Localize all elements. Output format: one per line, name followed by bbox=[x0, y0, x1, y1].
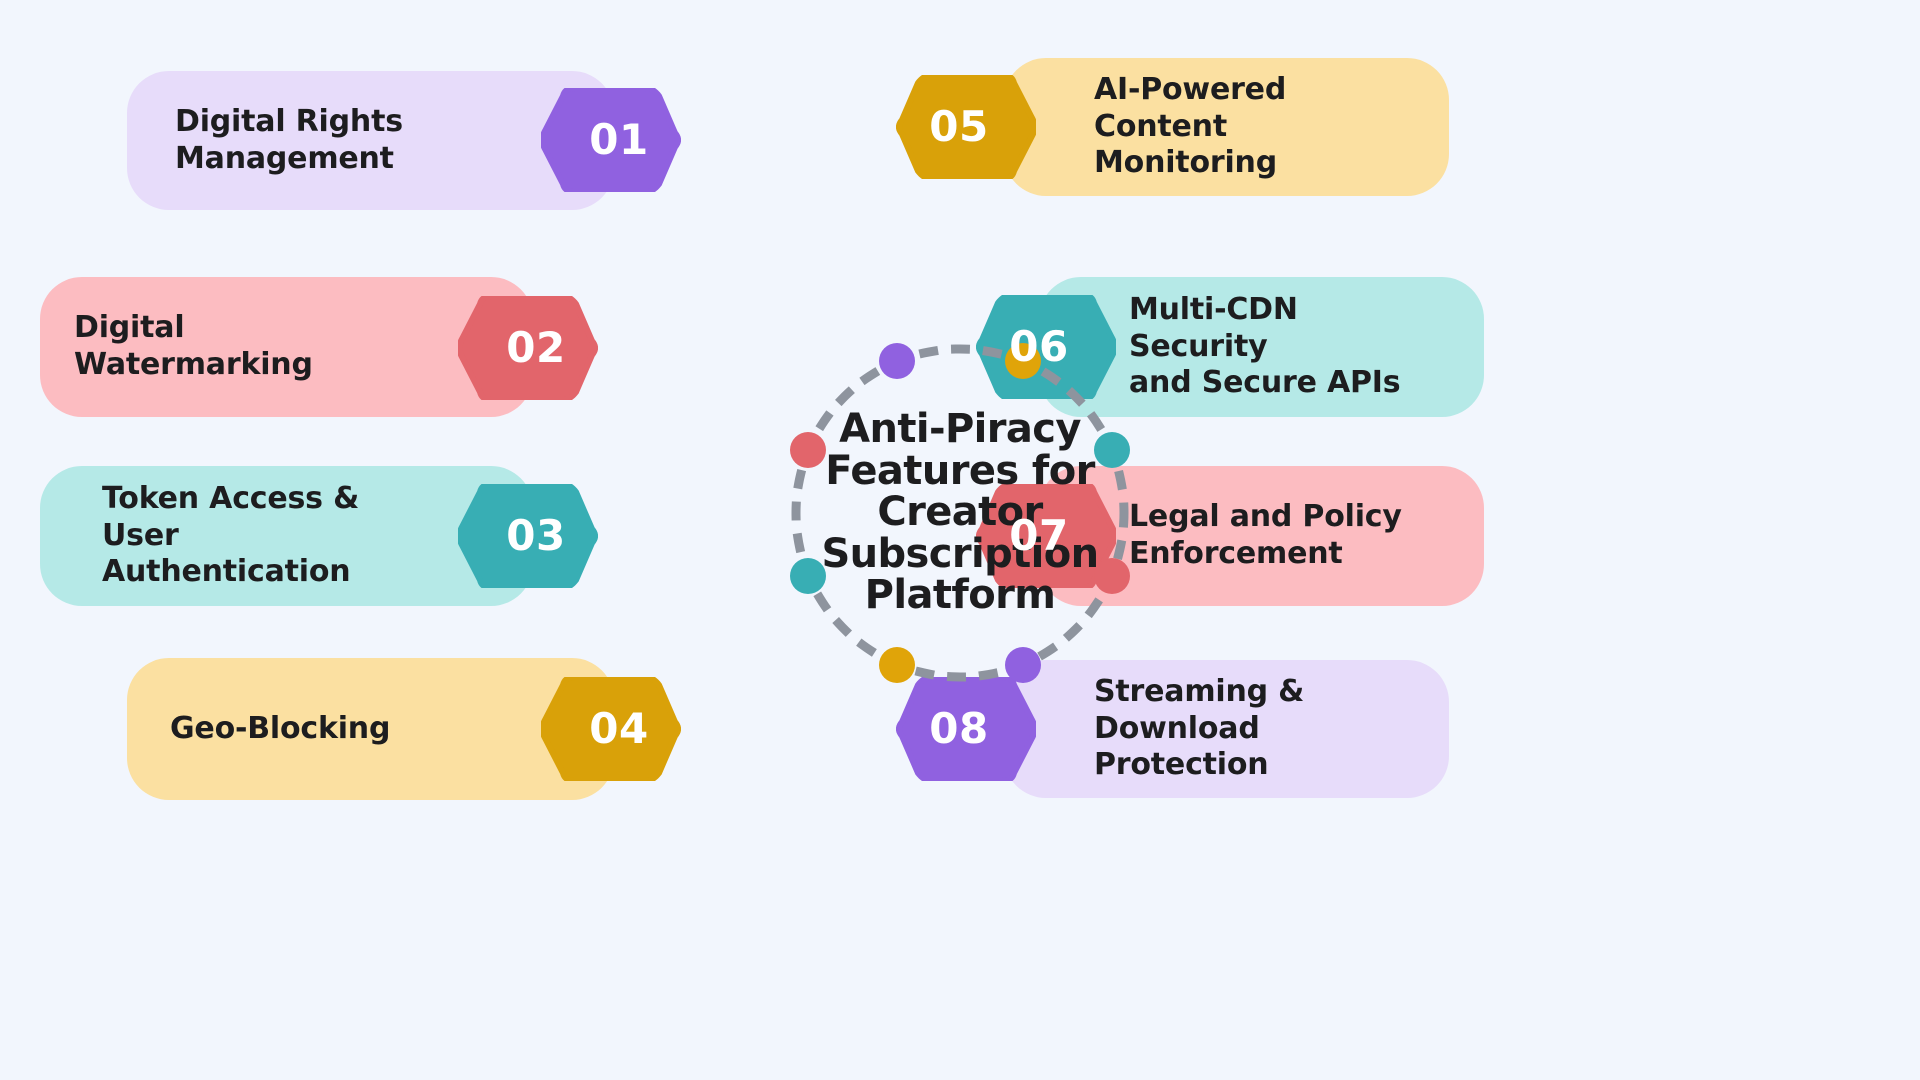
feature-label-02: Digital Watermarking bbox=[74, 310, 413, 383]
step-number-08: 08 bbox=[929, 708, 988, 750]
step-badge-02[interactable]: 02 bbox=[458, 296, 598, 400]
step-badge-04[interactable]: 04 bbox=[541, 677, 681, 781]
feature-label-01: Digital Rights Management bbox=[175, 104, 494, 177]
feature-label-06: Multi-CDN Security and Secure APIs bbox=[1129, 292, 1438, 402]
step-number-03: 03 bbox=[506, 515, 565, 557]
step-number-02: 02 bbox=[506, 327, 565, 369]
infographic-canvas: Digital Rights Management01Digital Water… bbox=[0, 0, 1920, 1080]
feature-label-03: Token Access & User Authentication bbox=[102, 481, 413, 591]
step-badge-01[interactable]: 01 bbox=[541, 88, 681, 192]
step-number-05: 05 bbox=[929, 106, 988, 148]
step-badge-03[interactable]: 03 bbox=[458, 484, 598, 588]
hub-dot-bottom-right bbox=[1005, 647, 1041, 683]
center-hub: Anti-Piracy Features for Creator Subscri… bbox=[777, 330, 1143, 696]
step-number-01: 01 bbox=[589, 119, 648, 161]
step-number-06: 06 bbox=[1009, 326, 1068, 368]
step-badge-05[interactable]: 05 bbox=[896, 75, 1036, 179]
feature-card-05[interactable]: AI-Powered Content Monitoring bbox=[1004, 58, 1449, 196]
feature-label-05: AI-Powered Content Monitoring bbox=[1094, 72, 1405, 182]
feature-label-07: Legal and Policy Enforcement bbox=[1129, 499, 1438, 572]
step-number-04: 04 bbox=[589, 708, 648, 750]
step-number-07: 07 bbox=[1009, 515, 1068, 557]
hub-title: Anti-Piracy Features for Creator Subscri… bbox=[759, 409, 1161, 617]
feature-label-04: Geo-Blocking bbox=[170, 711, 390, 748]
hub-dot-bottom-left bbox=[879, 647, 915, 683]
